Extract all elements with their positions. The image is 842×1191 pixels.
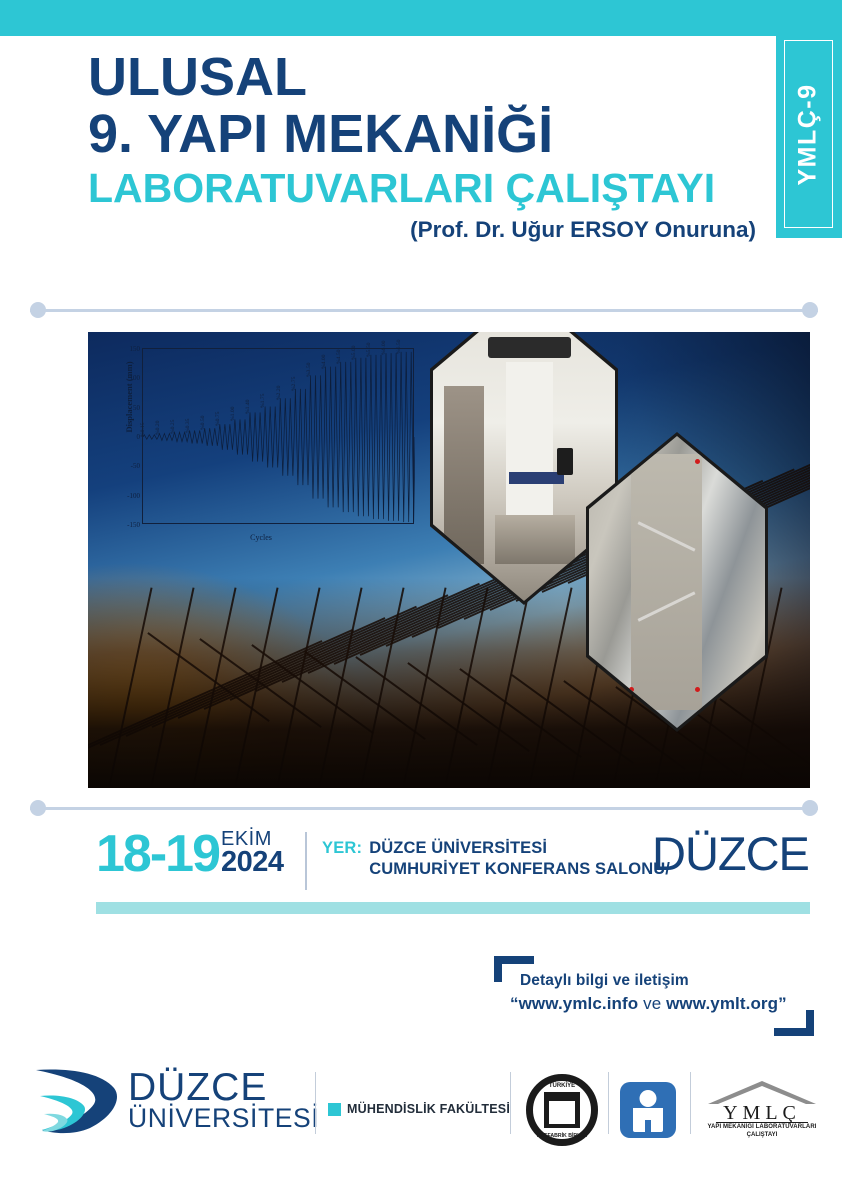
event-city: DÜZCE — [652, 826, 809, 881]
wall-specimen — [631, 454, 701, 711]
tpb-top-text: TÜRKİYE — [526, 1083, 598, 1089]
chart-y-tick: -100 — [127, 492, 140, 500]
venue-lines: DÜZCE ÜNİVERSİTESİ CUMHURİYET KONFERANS … — [369, 838, 670, 880]
tpb-building-icon — [544, 1092, 580, 1128]
ymlc-sub-line-1: YAPI MEKANİĞİ LABORATUVARLARI — [706, 1124, 818, 1130]
institution-head-icon — [640, 1090, 657, 1107]
chart-annotation: %6.50 — [396, 339, 402, 353]
title-line-3: LABORATUVARLARI ÇALIŞTAYI — [0, 165, 770, 212]
chart-annotation: %0.75 — [215, 412, 221, 426]
institution-legs-gap — [645, 1120, 651, 1132]
logo-turkiye-prefabrik-birligi: TÜRKİYE PREFABRİK BİRLİĞİ — [526, 1074, 598, 1146]
contact-block: Detaylı bilgi ve iletişim “www.ymlc.info… — [494, 956, 814, 1036]
divider-line — [30, 309, 818, 312]
wall-marker-4 — [695, 687, 700, 692]
tpb-building-inner — [549, 1101, 575, 1124]
event-year: 2024 — [221, 849, 284, 877]
chart-annotation: %0.25 — [170, 420, 176, 434]
lab-wall-left — [444, 386, 484, 564]
venue-line-2: CUMHURİYET KONFERANS SALONU/ — [369, 859, 670, 880]
logo-duzce-universitesi: DÜZCE ÜNİVERSİTESİ — [34, 1064, 319, 1136]
footer-separator-4 — [690, 1072, 691, 1134]
side-tab-inner-border: YMLÇ-9 — [784, 40, 833, 228]
duzce-name-line-2: ÜNİVERSİTESİ — [128, 1106, 319, 1131]
faculty-square-icon — [328, 1103, 341, 1116]
divider-line — [30, 807, 818, 810]
chart-y-tick: 150 — [130, 345, 141, 353]
event-date: 18-19 EKİM 2024 — [96, 830, 284, 879]
venue-line-1: DÜZCE ÜNİVERSİTESİ — [369, 838, 670, 859]
teal-underline-bar — [96, 902, 810, 914]
logo-engineering-faculty: MÜHENDİSLİK FAKÜLTESİ — [328, 1102, 510, 1116]
chart-annotation: %5.00 — [351, 345, 357, 359]
event-days: 18-19 — [96, 831, 219, 879]
top-accent-band — [0, 0, 842, 36]
lab-camera — [557, 448, 573, 476]
chart-plot — [143, 349, 415, 525]
divider-top — [30, 302, 818, 318]
footer-separator-1 — [315, 1072, 316, 1134]
chart-annotation: %5.50 — [366, 342, 372, 356]
side-tab: YMLÇ-9 — [776, 36, 842, 238]
tpb-bottom-text: PREFABRİK BİRLİĞİ — [526, 1133, 598, 1139]
duzce-name-line-1: DÜZCE — [128, 1069, 319, 1106]
chart-annotation: %2.75 — [291, 376, 297, 390]
displacement-chart: Displacement (mm) Cycles -150-100-500501… — [102, 340, 420, 552]
ymlc-rule — [716, 1122, 808, 1123]
title-subtitle: (Prof. Dr. Uğur ERSOY Onuruna) — [0, 217, 770, 243]
hero-photo: Displacement (mm) Cycles -150-100-500501… — [88, 332, 810, 788]
footer-logo-bar: DÜZCE ÜNİVERSİTESİ MÜHENDİSLİK FAKÜLTESİ… — [0, 1058, 842, 1168]
lab-floor — [495, 515, 575, 564]
chart-y-axis-label: Displacement (mm) — [124, 342, 134, 452]
chart-annotation: %1.75 — [260, 394, 266, 408]
event-venue: YER: DÜZCE ÜNİVERSİTESİ CUMHURİYET KONFE… — [322, 838, 670, 880]
chart-y-tick: 100 — [130, 374, 141, 382]
divider-dot-right-icon — [802, 302, 818, 318]
chart-series-line — [143, 352, 415, 522]
venue-label: YER: — [322, 839, 362, 858]
chart-annotation: %6.00 — [381, 341, 387, 355]
chart-annotation: %0.50 — [200, 416, 206, 430]
chart-annotation: %0.20 — [155, 421, 161, 435]
chart-annotation: %0.35 — [185, 418, 191, 432]
footer-separator-3 — [608, 1072, 609, 1134]
chart-y-tick: -150 — [127, 521, 140, 529]
divider-dot-left-icon — [30, 800, 46, 816]
chart-y-tick: 50 — [133, 404, 140, 412]
date-venue-separator — [305, 832, 307, 890]
event-info-row: 18-19 EKİM 2024 YER: DÜZCE ÜNİVERSİTESİ … — [0, 826, 842, 898]
website-1[interactable]: “www.ymlc.info — [510, 994, 638, 1013]
title-line-1: ULUSAL — [0, 50, 770, 105]
chart-y-tick: -50 — [131, 462, 140, 470]
chart-annotation: %1.00 — [230, 407, 236, 421]
website-2[interactable]: www.ymlt.org” — [666, 994, 787, 1013]
lab-table — [509, 472, 564, 484]
lab-specimen — [506, 362, 553, 531]
title-line-2: 9. YAPI MEKANİĞİ — [0, 105, 770, 163]
divider-dot-right-icon — [802, 800, 818, 816]
divider-dot-left-icon — [30, 302, 46, 318]
contact-websites: “www.ymlc.info ve www.ymlt.org” — [510, 994, 787, 1014]
chart-annotation: %1.40 — [245, 400, 251, 414]
side-tab-label: YMLÇ-9 — [794, 83, 823, 185]
chart-x-axis-label: Cycles — [250, 533, 272, 542]
chart-annotation: %3.50 — [306, 363, 312, 377]
duzce-wordmark: DÜZCE ÜNİVERSİTESİ — [128, 1069, 319, 1131]
event-month-year: EKİM 2024 — [221, 830, 284, 877]
title-block: ULUSAL 9. YAPI MEKANİĞİ LABORATUVARLARI … — [0, 50, 770, 243]
website-conjunction: ve — [638, 994, 666, 1013]
chart-annotation: %2.20 — [276, 386, 282, 400]
chart-annotation: %0.15 — [140, 422, 146, 436]
footer-separator-2 — [510, 1072, 511, 1134]
logo-institution-icon — [620, 1082, 676, 1138]
duzce-swoosh-icon — [34, 1064, 120, 1136]
faculty-label: MÜHENDİSLİK FAKÜLTESİ — [347, 1102, 510, 1116]
chart-annotation: %4.00 — [321, 354, 327, 368]
logo-ymlc: YMLÇ YAPI MEKANİĞİ LABORATUVARLARI ÇALIŞ… — [706, 1080, 818, 1142]
chart-annotation: %4.50 — [336, 349, 342, 363]
lab-actuator — [488, 337, 572, 358]
ymlc-sub-line-2: ÇALIŞTAYI — [706, 1132, 818, 1138]
divider-bottom — [30, 800, 818, 816]
contact-heading: Detaylı bilgi ve iletişim — [520, 972, 689, 990]
